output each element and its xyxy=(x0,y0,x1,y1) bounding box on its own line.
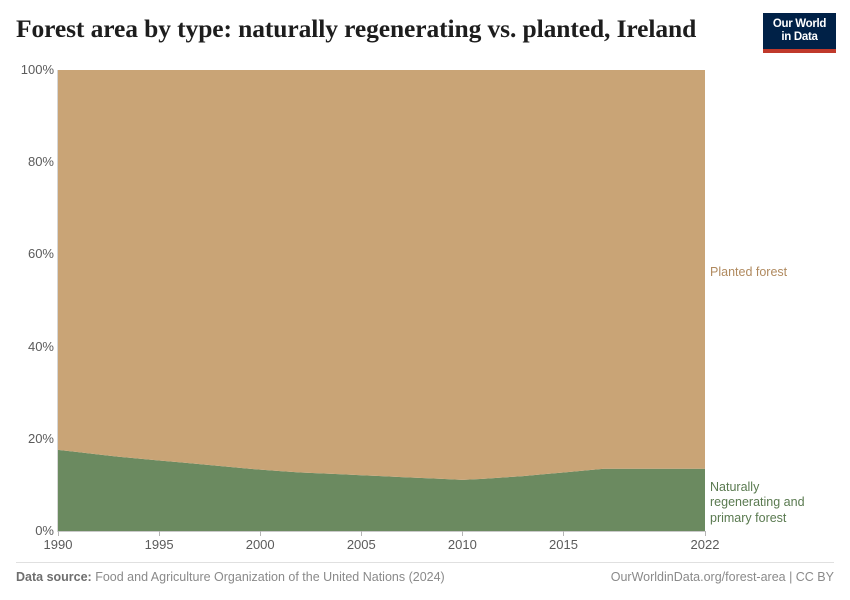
footer-source-text: Food and Agriculture Organization of the… xyxy=(92,570,445,584)
y-axis-tick-label: 80% xyxy=(4,154,54,169)
x-axis-tick xyxy=(58,531,59,536)
x-axis-tick-label: 2010 xyxy=(448,537,477,552)
owid-logo[interactable]: Our World in Data xyxy=(763,13,836,53)
y-axis-tick-label: 0% xyxy=(4,523,54,538)
x-axis-tick xyxy=(159,531,160,536)
series-label-naturally-regenerating-forest[interactable]: Naturally regenerating and primary fores… xyxy=(710,480,805,526)
x-axis-tick xyxy=(462,531,463,536)
y-axis-tick-label: 40% xyxy=(4,339,54,354)
x-axis-tick-label: 2000 xyxy=(246,537,275,552)
area-series[interactable] xyxy=(58,70,705,480)
x-axis-tick xyxy=(361,531,362,536)
footer: Data source: Food and Agriculture Organi… xyxy=(16,570,834,584)
y-axis-tick-label: 100% xyxy=(4,62,54,77)
series-label-planted-forest[interactable]: Planted forest xyxy=(710,265,787,280)
logo-line-2: in Data xyxy=(763,31,836,44)
area-chart-svg xyxy=(58,70,705,531)
x-axis: 1990199520002005201020152022 xyxy=(58,531,705,561)
stacked-areas xyxy=(58,70,705,531)
x-axis-tick-label: 1990 xyxy=(44,537,73,552)
plot-area xyxy=(58,70,705,531)
y-axis-tick-label: 60% xyxy=(4,246,54,261)
page-title: Forest area by type: naturally regenerat… xyxy=(16,14,736,43)
x-axis-tick-label: 2015 xyxy=(549,537,578,552)
footer-data-source: Data source: Food and Agriculture Organi… xyxy=(16,570,445,584)
x-axis-tick xyxy=(563,531,564,536)
y-axis-tick-label: 20% xyxy=(4,431,54,446)
footer-source-label: Data source: xyxy=(16,570,92,584)
chart-page: Forest area by type: naturally regenerat… xyxy=(0,0,850,600)
footer-divider xyxy=(16,562,834,563)
x-axis-tick-label: 2005 xyxy=(347,537,376,552)
x-axis-tick-label: 1995 xyxy=(145,537,174,552)
footer-license[interactable]: OurWorldinData.org/forest-area | CC BY xyxy=(611,570,834,584)
x-axis-tick xyxy=(705,531,706,536)
x-axis-tick xyxy=(260,531,261,536)
x-axis-tick-label: 2022 xyxy=(691,537,720,552)
logo-line-1: Our World xyxy=(773,18,826,30)
y-axis: 0%20%40%60%80%100% xyxy=(0,70,54,531)
